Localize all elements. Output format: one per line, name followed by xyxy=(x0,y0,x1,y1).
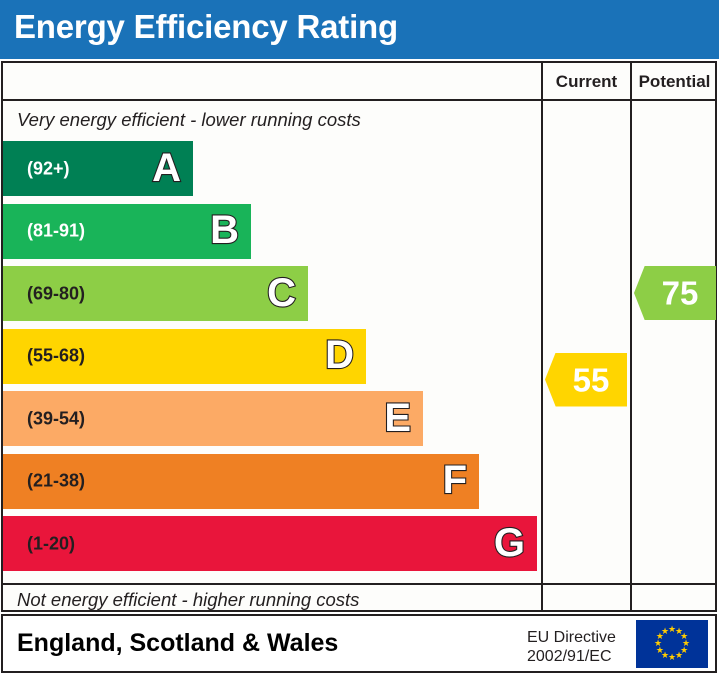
footer-region-label: England, Scotland & Wales xyxy=(17,629,338,658)
directive-line-1: EU Directive xyxy=(527,628,616,647)
rating-value-potential: 75 xyxy=(634,277,716,310)
footer-directive-label: EU Directive 2002/91/EC xyxy=(527,628,616,666)
band-letter-g: G xyxy=(494,523,525,563)
rating-arrow-potential: 75 xyxy=(634,266,716,320)
title-bar: Energy Efficiency Rating xyxy=(0,0,719,59)
rating-band-b: (81-91)B xyxy=(3,204,251,259)
band-range-a: (92+) xyxy=(27,158,70,179)
band-range-c: (69-80) xyxy=(27,283,85,304)
rating-arrow-current: 55 xyxy=(545,353,627,407)
band-letter-f: F xyxy=(443,460,467,500)
rating-band-f: (21-38)F xyxy=(3,454,479,509)
caption-row-divider xyxy=(1,583,717,585)
rating-band-a: (92+)A xyxy=(3,141,193,196)
header-row-divider xyxy=(1,99,717,101)
footer-bar: England, Scotland & Wales EU Directive 2… xyxy=(1,614,717,673)
page-title: Energy Efficiency Rating xyxy=(14,8,398,46)
caption-very-efficient: Very energy efficient - lower running co… xyxy=(17,109,361,131)
rating-band-d: (55-68)D xyxy=(3,329,366,384)
band-letter-a: A xyxy=(152,148,181,188)
band-range-f: (21-38) xyxy=(27,471,85,492)
band-letter-c: C xyxy=(267,273,296,313)
band-range-g: (1-20) xyxy=(27,533,75,554)
eu-flag-star: ★ xyxy=(661,627,670,636)
directive-line-2: 2002/91/EC xyxy=(527,647,616,666)
band-letter-e: E xyxy=(384,398,411,438)
column-header-current: Current xyxy=(543,68,630,96)
rating-band-c: (69-80)C xyxy=(3,266,308,321)
rating-value-current: 55 xyxy=(545,363,627,396)
rating-band-e: (39-54)E xyxy=(3,391,423,446)
band-letter-b: B xyxy=(210,210,239,250)
caption-not-efficient: Not energy efficient - higher running co… xyxy=(17,589,359,611)
rating-band-g: (1-20)G xyxy=(3,516,537,571)
energy-efficiency-rating-chart: Energy Efficiency Rating Current Potenti… xyxy=(0,0,719,675)
band-range-b: (81-91) xyxy=(27,221,85,242)
band-range-d: (55-68) xyxy=(27,346,85,367)
column-divider-current xyxy=(541,62,543,612)
column-divider-potential xyxy=(630,62,632,612)
band-range-e: (39-54) xyxy=(27,408,85,429)
column-header-potential: Potential xyxy=(632,68,717,96)
band-letter-d: D xyxy=(325,335,354,375)
eu-flag-icon: ★★★★★★★★★★★★ xyxy=(636,620,708,668)
